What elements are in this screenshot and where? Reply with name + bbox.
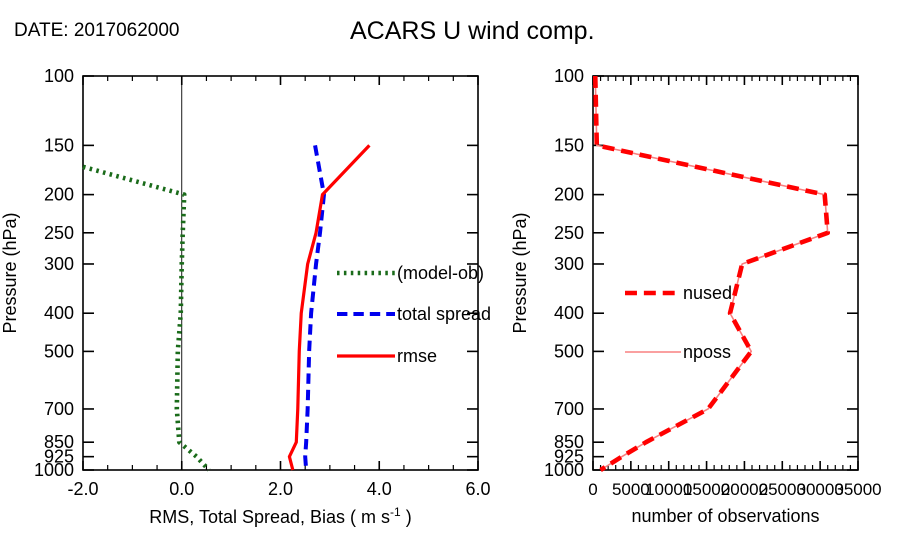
x-tick-label: 0.0 <box>169 479 194 499</box>
x-tick-label: 4.0 <box>367 479 392 499</box>
y-tick-label: 500 <box>554 341 584 361</box>
legend-label-total-spread: total spread <box>397 304 491 324</box>
y-tick-label: 400 <box>554 303 584 323</box>
y-tick-label: 200 <box>44 185 74 205</box>
y-tick-label: 300 <box>44 254 74 274</box>
x-axis-title: number of observations <box>631 506 819 526</box>
chart-page: DATE: 2017062000 ACARS U wind comp. -2.0… <box>0 0 900 560</box>
y-tick-label: 700 <box>44 399 74 419</box>
x-tick-label: 2.0 <box>268 479 293 499</box>
x-axis-title: RMS, Total Spread, Bias ( m s-1 ) <box>149 505 411 527</box>
y-tick-label: 400 <box>44 303 74 323</box>
y-tick-label: 200 <box>554 185 584 205</box>
y-tick-label: 250 <box>44 223 74 243</box>
chart-canvas: -2.00.02.04.06.0100150200250300400500700… <box>0 0 900 560</box>
x-tick-label: 0 <box>588 480 597 499</box>
y-axis-title: Pressure (hPa) <box>510 212 530 333</box>
y-tick-label: 100 <box>44 66 74 86</box>
x-tick-label: -2.0 <box>67 479 98 499</box>
y-tick-label: 300 <box>554 254 584 274</box>
x-tick-label: 6.0 <box>465 479 490 499</box>
legend-label-nposs: nposs <box>683 342 731 362</box>
y-tick-label: 150 <box>44 135 74 155</box>
legend-label-rmse: rmse <box>397 346 437 366</box>
series-rmse <box>289 145 369 470</box>
y-tick-label: 500 <box>44 341 74 361</box>
series--model-ob- <box>83 167 209 470</box>
y-tick-label: 1000 <box>544 460 584 480</box>
y-tick-label: 1000 <box>34 460 74 480</box>
y-tick-label: 150 <box>554 135 584 155</box>
series-nused <box>595 76 827 470</box>
y-tick-label: 700 <box>554 399 584 419</box>
y-tick-label: 250 <box>554 223 584 243</box>
legend-label--model-ob-: (model-ob) <box>397 263 484 283</box>
plot-frame <box>593 76 858 470</box>
y-axis-title: Pressure (hPa) <box>0 212 20 333</box>
legend-label-nused: nused <box>683 283 732 303</box>
series-nposs <box>595 76 827 470</box>
y-tick-label: 100 <box>554 66 584 86</box>
x-tick-label: 35000 <box>834 480 881 499</box>
